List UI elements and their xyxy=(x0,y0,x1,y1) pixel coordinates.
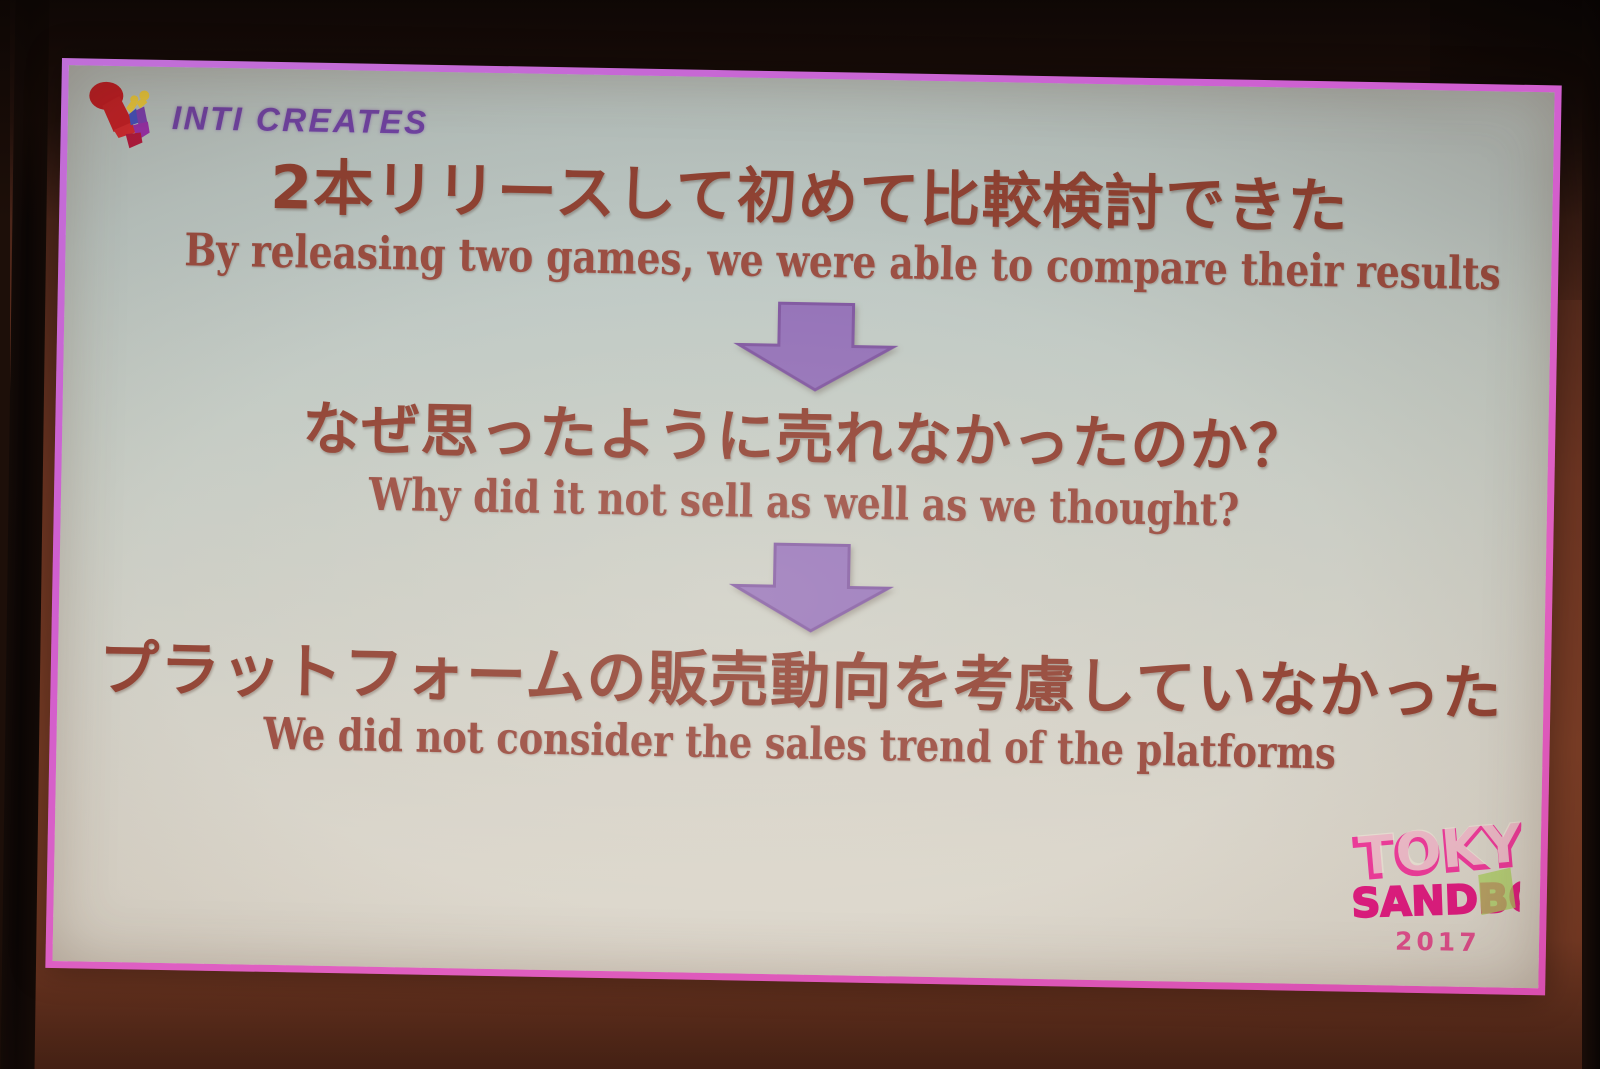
megaphone-icon xyxy=(85,79,166,154)
tokyo-sandbox-year: 2017 xyxy=(1395,927,1481,958)
arrow-row-1 xyxy=(63,288,1550,405)
statement-block-2: なぜ思ったように売れなかったのか？ Why did it not sell as… xyxy=(61,394,1549,540)
statement-block-3: プラットフォームの販売動向を考慮していなかった We did not consi… xyxy=(56,637,1544,782)
slide-content: 2本リリースして初めて比較検討できた By releasing two game… xyxy=(52,153,1553,988)
statement-block-1: 2本リリースして初めて比較検討できた By releasing two game… xyxy=(65,153,1553,299)
slide-border-frame: INTI CREATES 2本リリースして初めて比較検討できた By relea… xyxy=(45,58,1561,995)
slide-canvas: INTI CREATES 2本リリースして初めて比較検討できた By relea… xyxy=(52,65,1554,988)
arrow-row-2 xyxy=(59,529,1546,646)
down-arrow-icon xyxy=(706,300,908,394)
tokyo-sandbox-logo: TOKYO TOKYO SANDBOX 2017 xyxy=(1349,813,1522,966)
inti-creates-logo: INTI CREATES xyxy=(85,79,429,159)
down-arrow-icon xyxy=(702,541,904,635)
room-background: INTI CREATES 2本リリースして初めて比較検討できた By relea… xyxy=(0,0,1600,1069)
projected-slide: INTI CREATES 2本リリースして初めて比較検討できた By relea… xyxy=(45,58,1561,995)
inti-creates-wordmark: INTI CREATES xyxy=(172,99,429,142)
